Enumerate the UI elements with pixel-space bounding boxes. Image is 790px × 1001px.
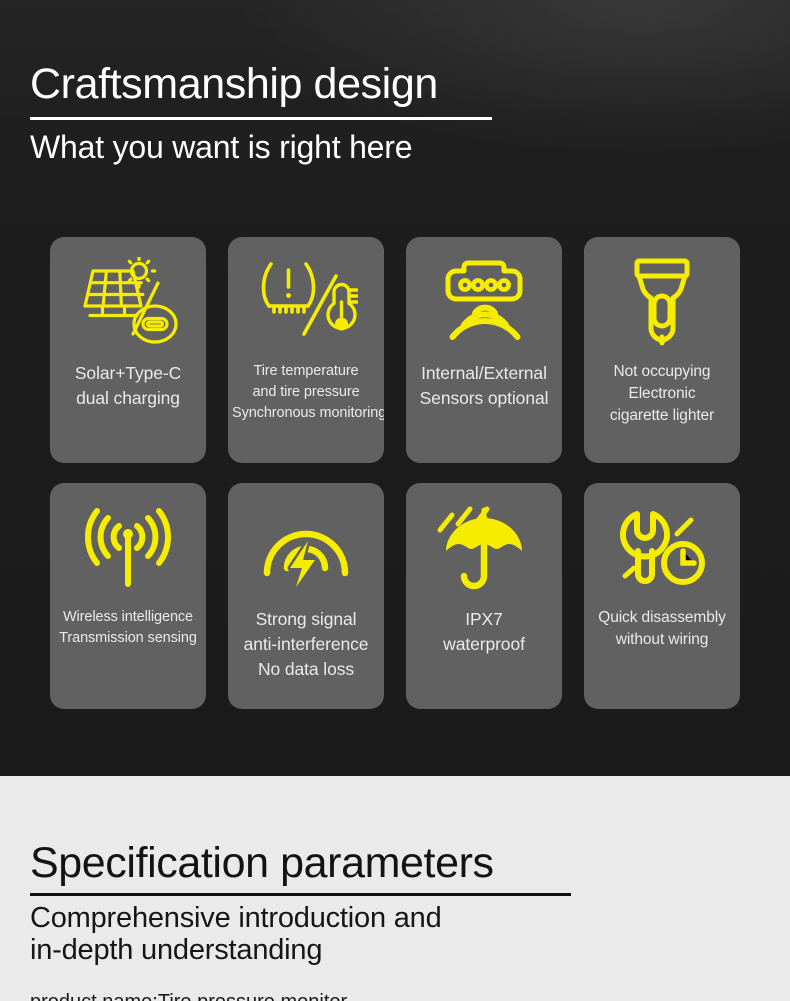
feature-card[interactable]: Tire temperature and tire pressure Synch… [228,237,384,463]
feature-card[interactable]: Internal/External Sensors optional [406,237,562,463]
feature-card-label: Solar+Type-C dual charging [50,361,206,411]
hero-heading-block: Craftsmanship design What you want is ri… [30,56,630,168]
wireless-antenna-icon [50,489,206,607]
feature-card-label: IPX7 waterproof [406,607,562,657]
feature-card[interactable]: Strong signal anti-interference No data … [228,483,384,709]
feature-card-label: Wireless intelligence Transmission sensi… [50,607,206,649]
product-detail-page: Craftsmanship design What you want is ri… [0,0,790,1001]
feature-card[interactable]: Solar+Type-C dual charging [50,237,206,463]
craftsmanship-section: Craftsmanship design What you want is ri… [0,0,790,776]
spec-title-underline [30,893,571,896]
page-subtitle: What you want is right here [30,126,630,168]
feature-card-label: Quick disassembly without wiring [584,607,740,651]
signal-bolt-icon [228,489,384,607]
solar-panel-typec-icon [50,243,206,361]
feature-card[interactable]: IPX7 waterproof [406,483,562,709]
spec-heading-block: Specification parameters Comprehensive i… [30,836,730,966]
feature-card-label: Strong signal anti-interference No data … [228,607,384,682]
feature-card[interactable]: Quick disassembly without wiring [584,483,740,709]
umbrella-rain-icon [406,489,562,607]
car-lighter-plug-icon [584,243,740,361]
feature-card-label: Tire temperature and tire pressure Synch… [228,361,384,424]
spec-title: Specification parameters [30,836,730,890]
feature-card[interactable]: Wireless intelligence Transmission sensi… [50,483,206,709]
specification-section: Specification parameters Comprehensive i… [0,776,790,1001]
sensor-signal-icon [406,243,562,361]
spec-param-product-name: product name:Tire pressure monitor [30,988,347,1001]
spec-subtitle: Comprehensive introduction and in-depth … [30,902,730,966]
wrench-clock-icon [584,489,740,607]
title-underline [30,117,492,120]
page-title: Craftsmanship design [30,56,630,112]
feature-card-label: Not occupying Electronic cigarette light… [584,361,740,427]
feature-card-label: Internal/External Sensors optional [406,361,562,411]
feature-card[interactable]: Not occupying Electronic cigarette light… [584,237,740,463]
feature-card-grid: Solar+Type-C dual charging [50,237,744,709]
tire-pressure-thermometer-icon [228,243,384,361]
